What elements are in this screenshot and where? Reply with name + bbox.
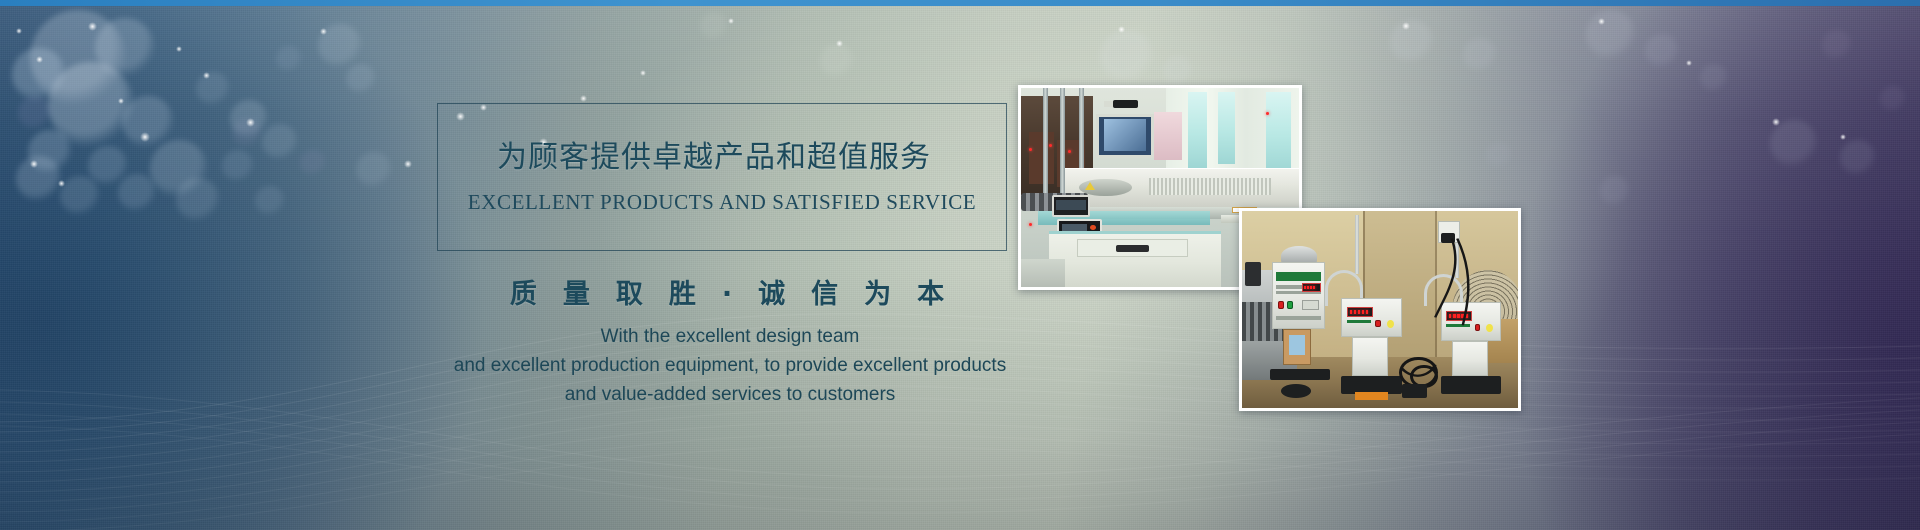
description-line-2: and excellent production equipment, to p… (330, 351, 1130, 380)
description-paragraph: With the excellent design team and excel… (330, 322, 1130, 409)
company-slogan: 质量取胜·诚信为本 (437, 272, 1017, 311)
top-accent-bar (0, 0, 1920, 6)
headline-frame-box (437, 103, 1007, 251)
headline-english: EXCELLENT PRODUCTS AND SATISFIED SERVICE (437, 190, 1007, 215)
description-line-1: With the excellent design team (330, 322, 1130, 351)
company-banner: 为顾客提供卓越产品和超值服务 EXCELLENT PRODUCTS AND SA… (0, 0, 1920, 530)
headline-chinese: 为顾客提供卓越产品和超值服务 (497, 132, 957, 176)
photo-crimping-machines (1239, 208, 1521, 411)
description-line-3: and value-added services to customers (330, 380, 1130, 409)
